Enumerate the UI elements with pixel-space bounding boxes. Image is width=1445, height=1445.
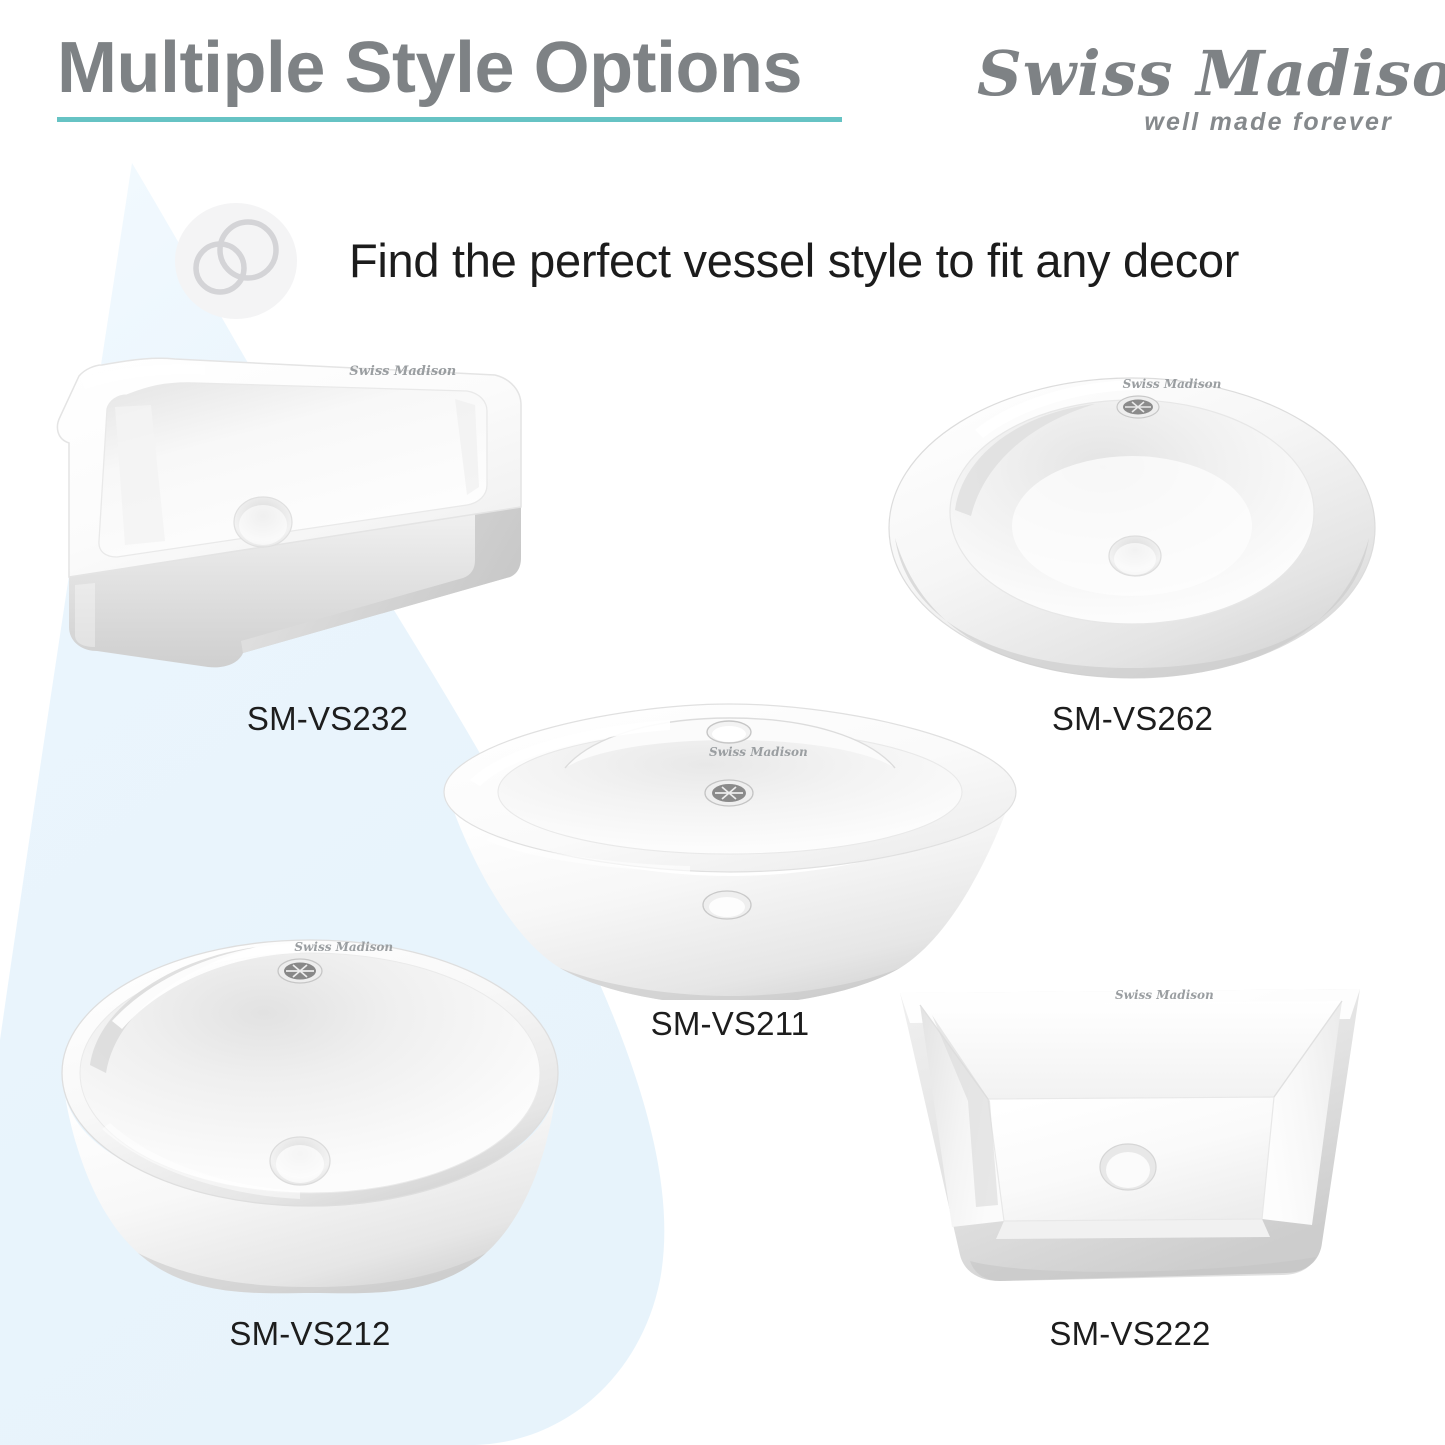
brand-tagline: well made forever [1144,108,1393,137]
title-underline [57,117,842,122]
brand-logo: Swiss Madison® well made forever [977,38,1397,148]
overlapping-circles-icon [175,200,297,322]
infographic-page: Multiple Style Options Swiss Madison® we… [0,0,1445,1445]
product-card-vs232: Swiss Madison SM-VS232 [55,345,600,695]
product-card-vs262: Swiss Madison SM-VS262 [885,360,1380,690]
square-vessel-sink-illustration [55,345,600,695]
tapered-square-basin-illustration [880,975,1380,1305]
subtitle-text: Find the perfect vessel style to fit any… [349,233,1239,288]
brand-name: Swiss Madison® [977,38,1397,109]
product-card-vs222: Swiss Madison SM-VS222 [880,975,1380,1305]
product-card-vs212: Swiss Madison SM-VS212 [50,925,570,1305]
product-image-vs222: Swiss Madison [880,975,1380,1305]
product-image-vs262: Swiss Madison [885,360,1380,690]
product-image-vs232: Swiss Madison [55,345,600,695]
round-rolled-rim-vessel-sink-illustration [885,360,1380,690]
round-bowl-vessel-sink-illustration [50,925,570,1305]
page-title: Multiple Style Options [57,32,802,104]
header: Multiple Style Options Swiss Madison® we… [0,0,1445,165]
product-label-vs222: SM-VS222 [880,1315,1380,1353]
product-label-vs212: SM-VS212 [50,1315,570,1353]
brand-name-text: Swiss Madison [977,37,1445,110]
product-image-vs212: Swiss Madison [50,925,570,1305]
subtitle-row: Find the perfect vessel style to fit any… [175,198,1239,323]
